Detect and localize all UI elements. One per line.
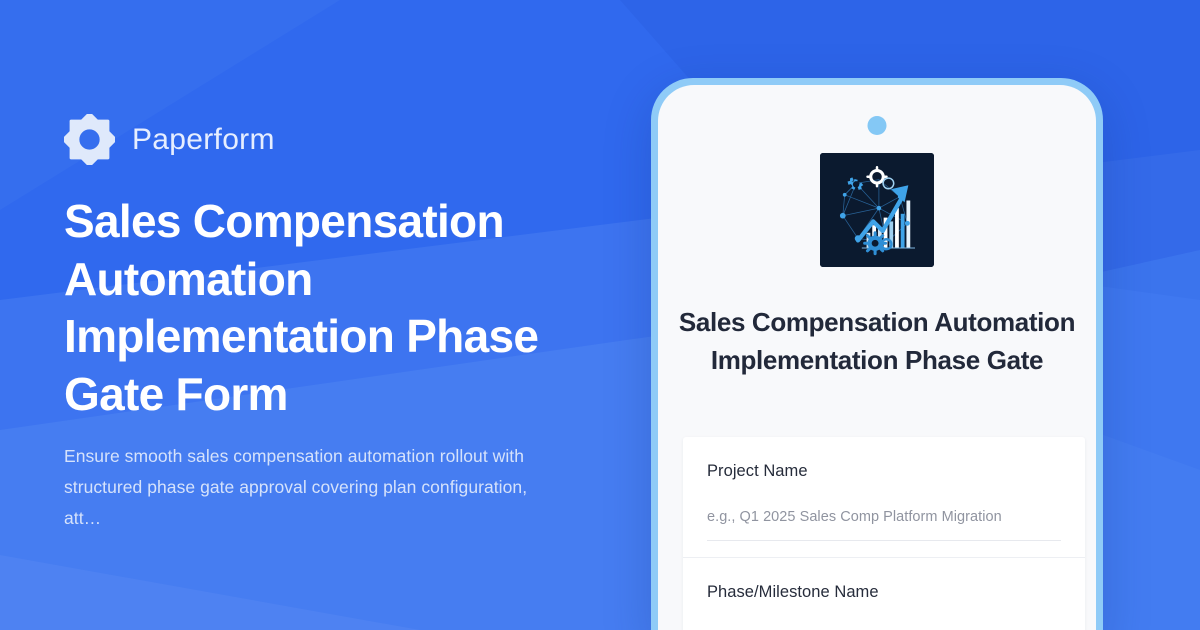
field-label: Phase/Milestone Name [707,582,1061,603]
share-card-canvas: Paperform Sales Compensation Automation … [0,0,1200,630]
form-thumbnail-image [820,153,934,267]
field-label: Project Name [707,461,1061,482]
analytics-growth-network-icon [820,153,934,267]
page-title: Sales Compensation Automation Implementa… [64,193,624,424]
page-description: Ensure smooth sales compensation automat… [64,441,564,534]
phone-screen: Sales Compensation Automation Implementa… [658,85,1096,630]
hero-left-column: Paperform Sales Compensation Automation … [64,0,664,630]
brand-wordmark: Paperform [132,125,275,155]
paperform-star-logo-icon [64,114,115,165]
camera-dot-icon [868,116,887,135]
phone-mockup: Sales Compensation Automation Implementa… [651,78,1103,630]
form-title: Sales Compensation Automation Implementa… [671,303,1083,380]
brand-lockup: Paperform [64,114,275,165]
project-name-input[interactable]: e.g., Q1 2025 Sales Comp Platform Migrat… [707,508,1061,540]
form-field-phase-milestone-name: Phase/Milestone Name e.g., Phase 2: Plan… [683,557,1085,630]
form-card: Project Name e.g., Q1 2025 Sales Comp Pl… [683,437,1085,630]
form-field-project-name: Project Name e.g., Q1 2025 Sales Comp Pl… [683,437,1085,541]
